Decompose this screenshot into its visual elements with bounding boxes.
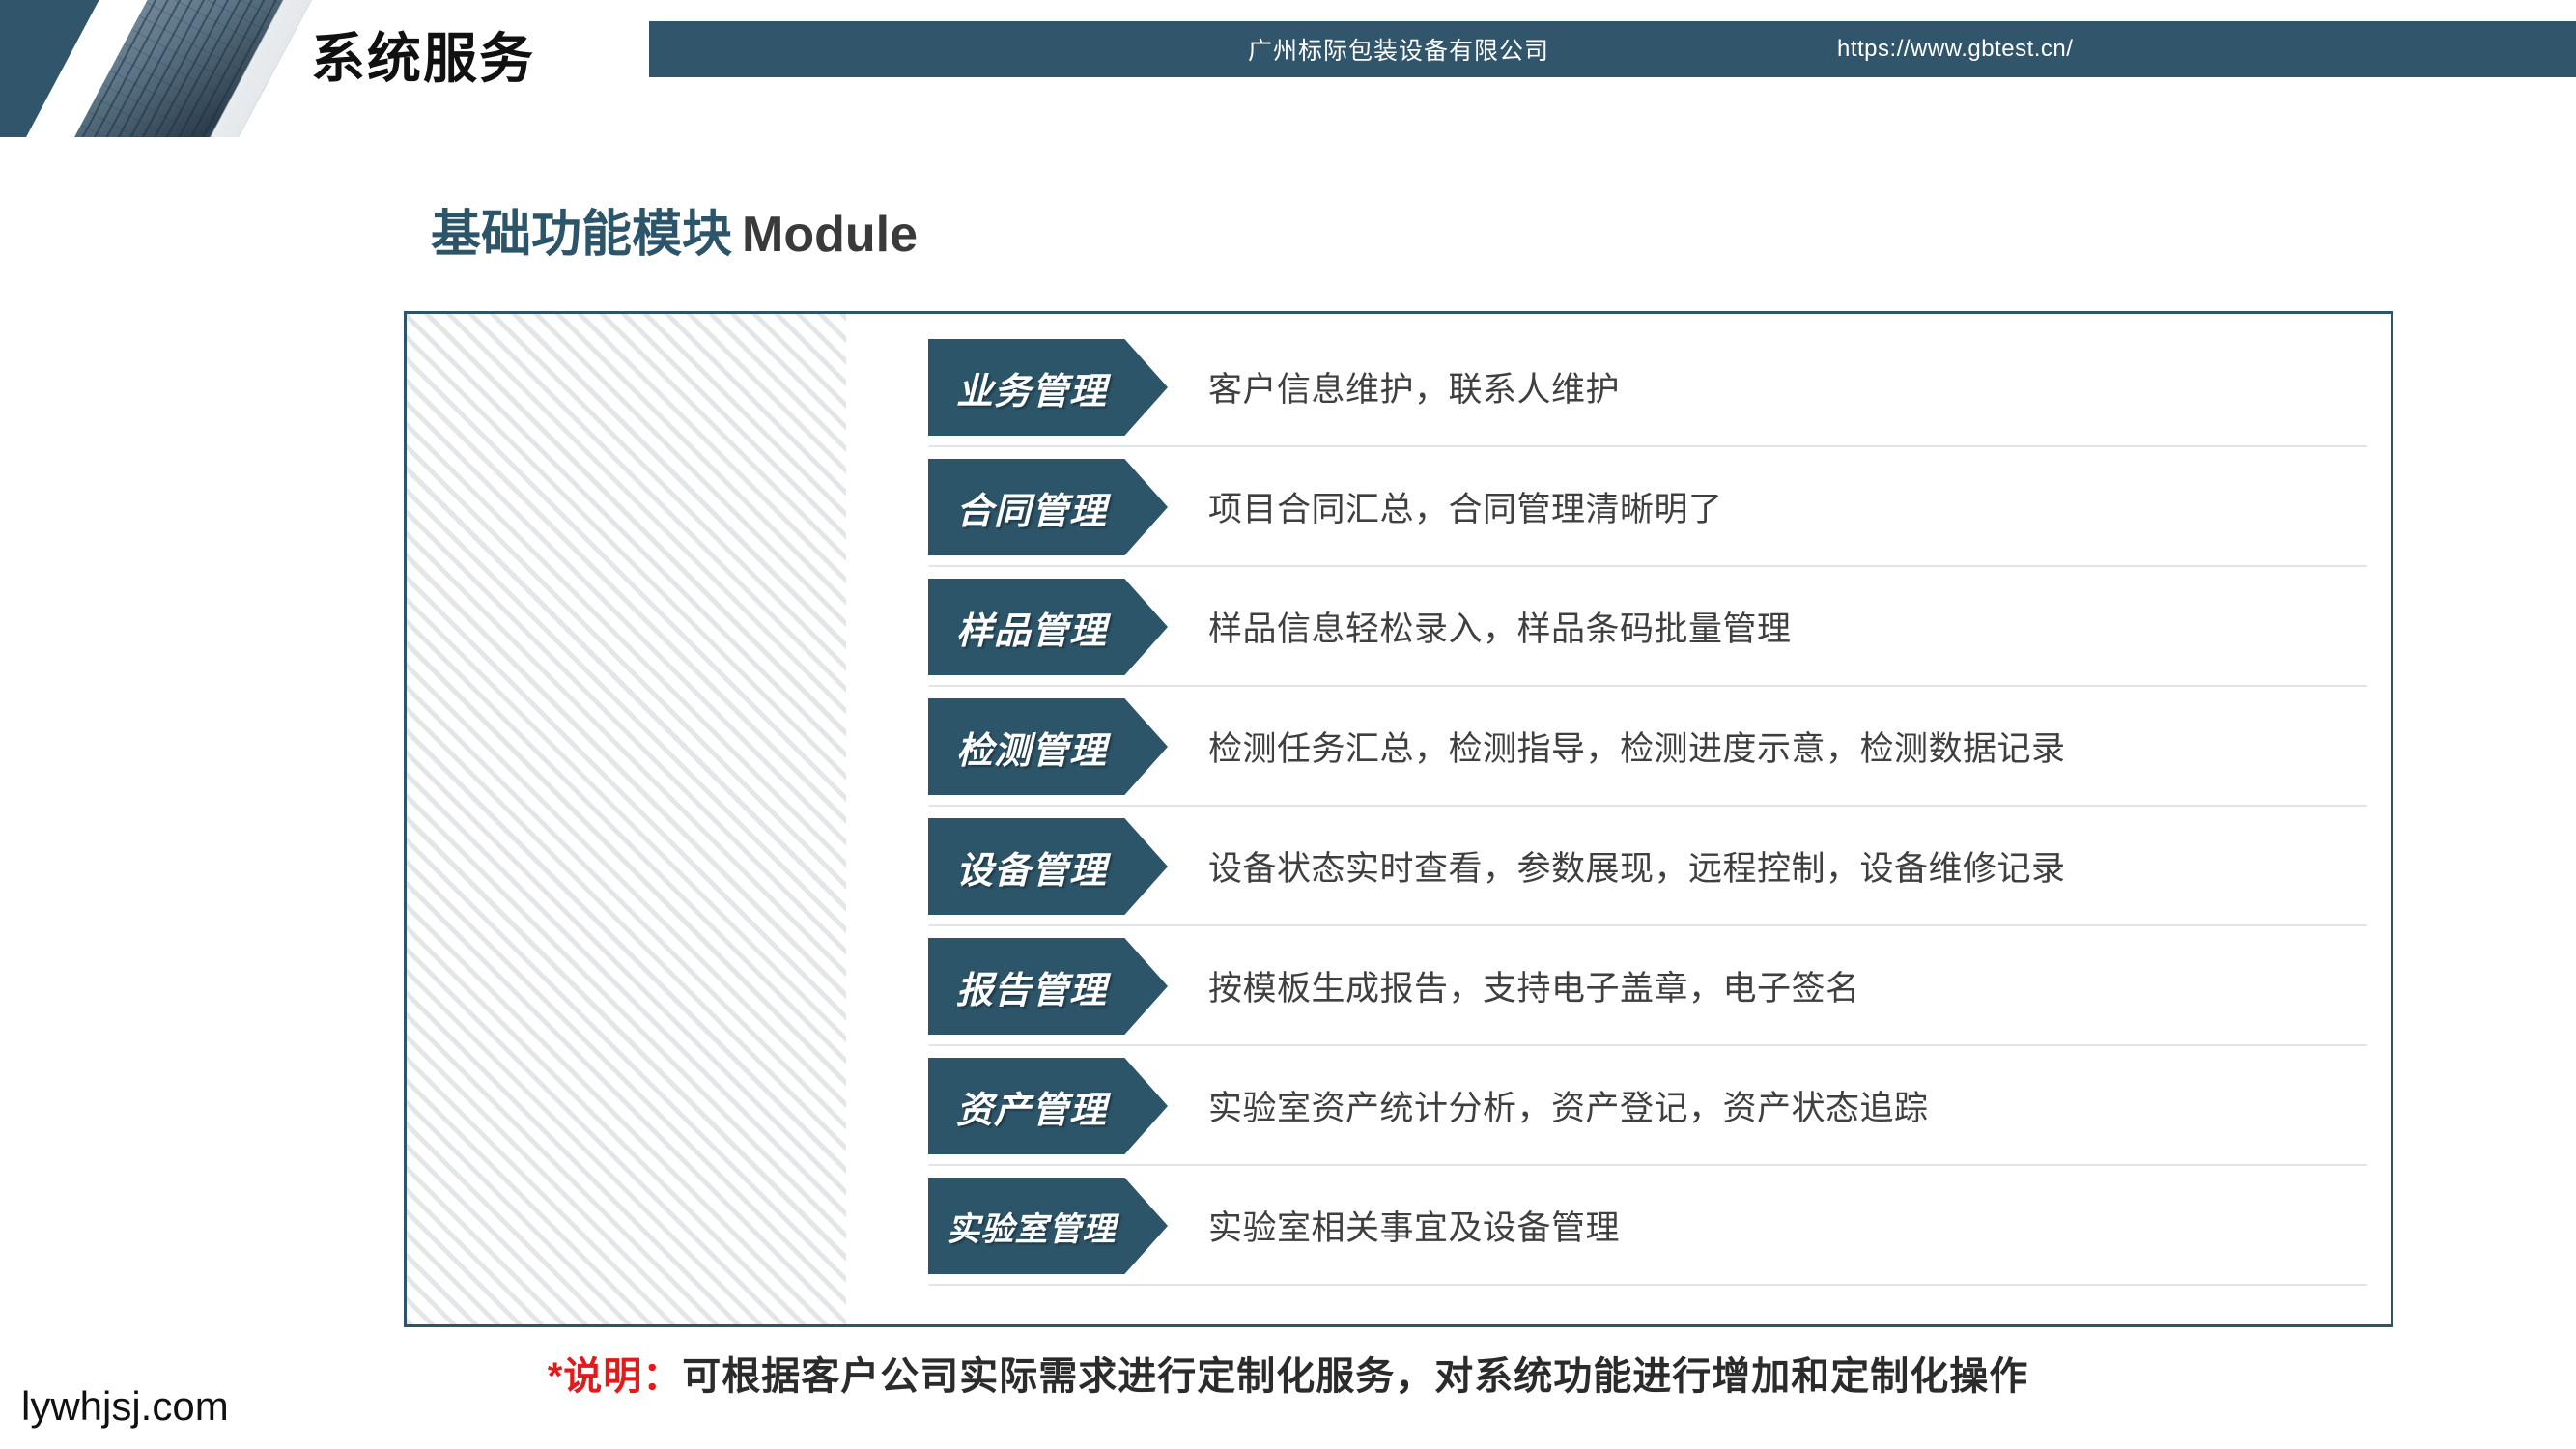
footer-note: *说明：可根据客户公司实际需求进行定制化服务，对系统功能进行增加和定制化操作 xyxy=(0,1345,2576,1401)
page-title: 系统服务 xyxy=(311,15,535,94)
module-description: 样品信息轻松录入，样品条码批量管理 xyxy=(1208,567,1792,685)
footer-note-text: 可根据客户公司实际需求进行定制化服务，对系统功能进行增加和定制化操作 xyxy=(682,1355,2028,1398)
module-description: 项目合同汇总，合同管理清晰明了 xyxy=(1208,447,1723,565)
corner-decoration xyxy=(0,0,319,137)
module-description: 实验室相关事宜及设备管理 xyxy=(1208,1166,1620,1284)
header-company-name: 广州标际包装设备有限公司 xyxy=(1248,32,1549,67)
module-arrow-label[interactable]: 报告管理 xyxy=(928,938,1168,1035)
header-bar: 广州标际包装设备有限公司 https://www.gbtest.cn/ xyxy=(649,21,2576,77)
module-description: 设备状态实时查看，参数展现，远程控制，设备维修记录 xyxy=(1208,807,2066,924)
module-rows: 业务管理 客户信息维护，联系人维护 合同管理 项目合同汇总，合同管理清晰明了 样… xyxy=(928,327,2367,1313)
module-list-panel: 业务管理 客户信息维护，联系人维护 合同管理 项目合同汇总，合同管理清晰明了 样… xyxy=(404,311,2393,1327)
module-row[interactable]: 报告管理 按模板生成报告，支持电子盖章，电子签名 xyxy=(928,926,2367,1046)
watermark: lywhjsj.com xyxy=(21,1383,229,1430)
hatched-decorative-panel xyxy=(407,314,846,1324)
section-heading-en: Module xyxy=(742,207,918,263)
module-arrow-label[interactable]: 样品管理 xyxy=(928,579,1168,675)
module-row[interactable]: 设备管理 设备状态实时查看，参数展现，远程控制，设备维修记录 xyxy=(928,807,2367,926)
section-heading-cn: 基础功能模块 xyxy=(431,207,732,263)
header-website-url[interactable]: https://www.gbtest.cn/ xyxy=(1837,36,2073,63)
module-row[interactable]: 实验室管理 实验室相关事宜及设备管理 xyxy=(928,1166,2367,1286)
module-arrow-label[interactable]: 设备管理 xyxy=(928,818,1168,915)
section-heading: 基础功能模块Module xyxy=(431,193,918,266)
module-description: 检测任务汇总，检测指导，检测进度示意，检测数据记录 xyxy=(1208,687,2066,805)
module-description: 客户信息维护，联系人维护 xyxy=(1208,327,1620,445)
module-row[interactable]: 业务管理 客户信息维护，联系人维护 xyxy=(928,327,2367,447)
module-arrow-label[interactable]: 资产管理 xyxy=(928,1058,1168,1154)
module-row[interactable]: 检测管理 检测任务汇总，检测指导，检测进度示意，检测数据记录 xyxy=(928,687,2367,807)
module-description: 实验室资产统计分析，资产登记，资产状态追踪 xyxy=(1208,1046,1929,1164)
module-description: 按模板生成报告，支持电子盖章，电子签名 xyxy=(1208,926,1860,1044)
module-arrow-label[interactable]: 实验室管理 xyxy=(928,1178,1168,1274)
footer-note-asterisk: *说明： xyxy=(548,1355,683,1398)
module-arrow-label[interactable]: 检测管理 xyxy=(928,698,1168,795)
skyscraper-photo xyxy=(65,0,316,137)
module-row[interactable]: 资产管理 实验室资产统计分析，资产登记，资产状态追踪 xyxy=(928,1046,2367,1166)
module-arrow-label[interactable]: 业务管理 xyxy=(928,339,1168,436)
module-row[interactable]: 样品管理 样品信息轻松录入，样品条码批量管理 xyxy=(928,567,2367,687)
module-row[interactable]: 合同管理 项目合同汇总，合同管理清晰明了 xyxy=(928,447,2367,567)
module-arrow-label[interactable]: 合同管理 xyxy=(928,459,1168,555)
